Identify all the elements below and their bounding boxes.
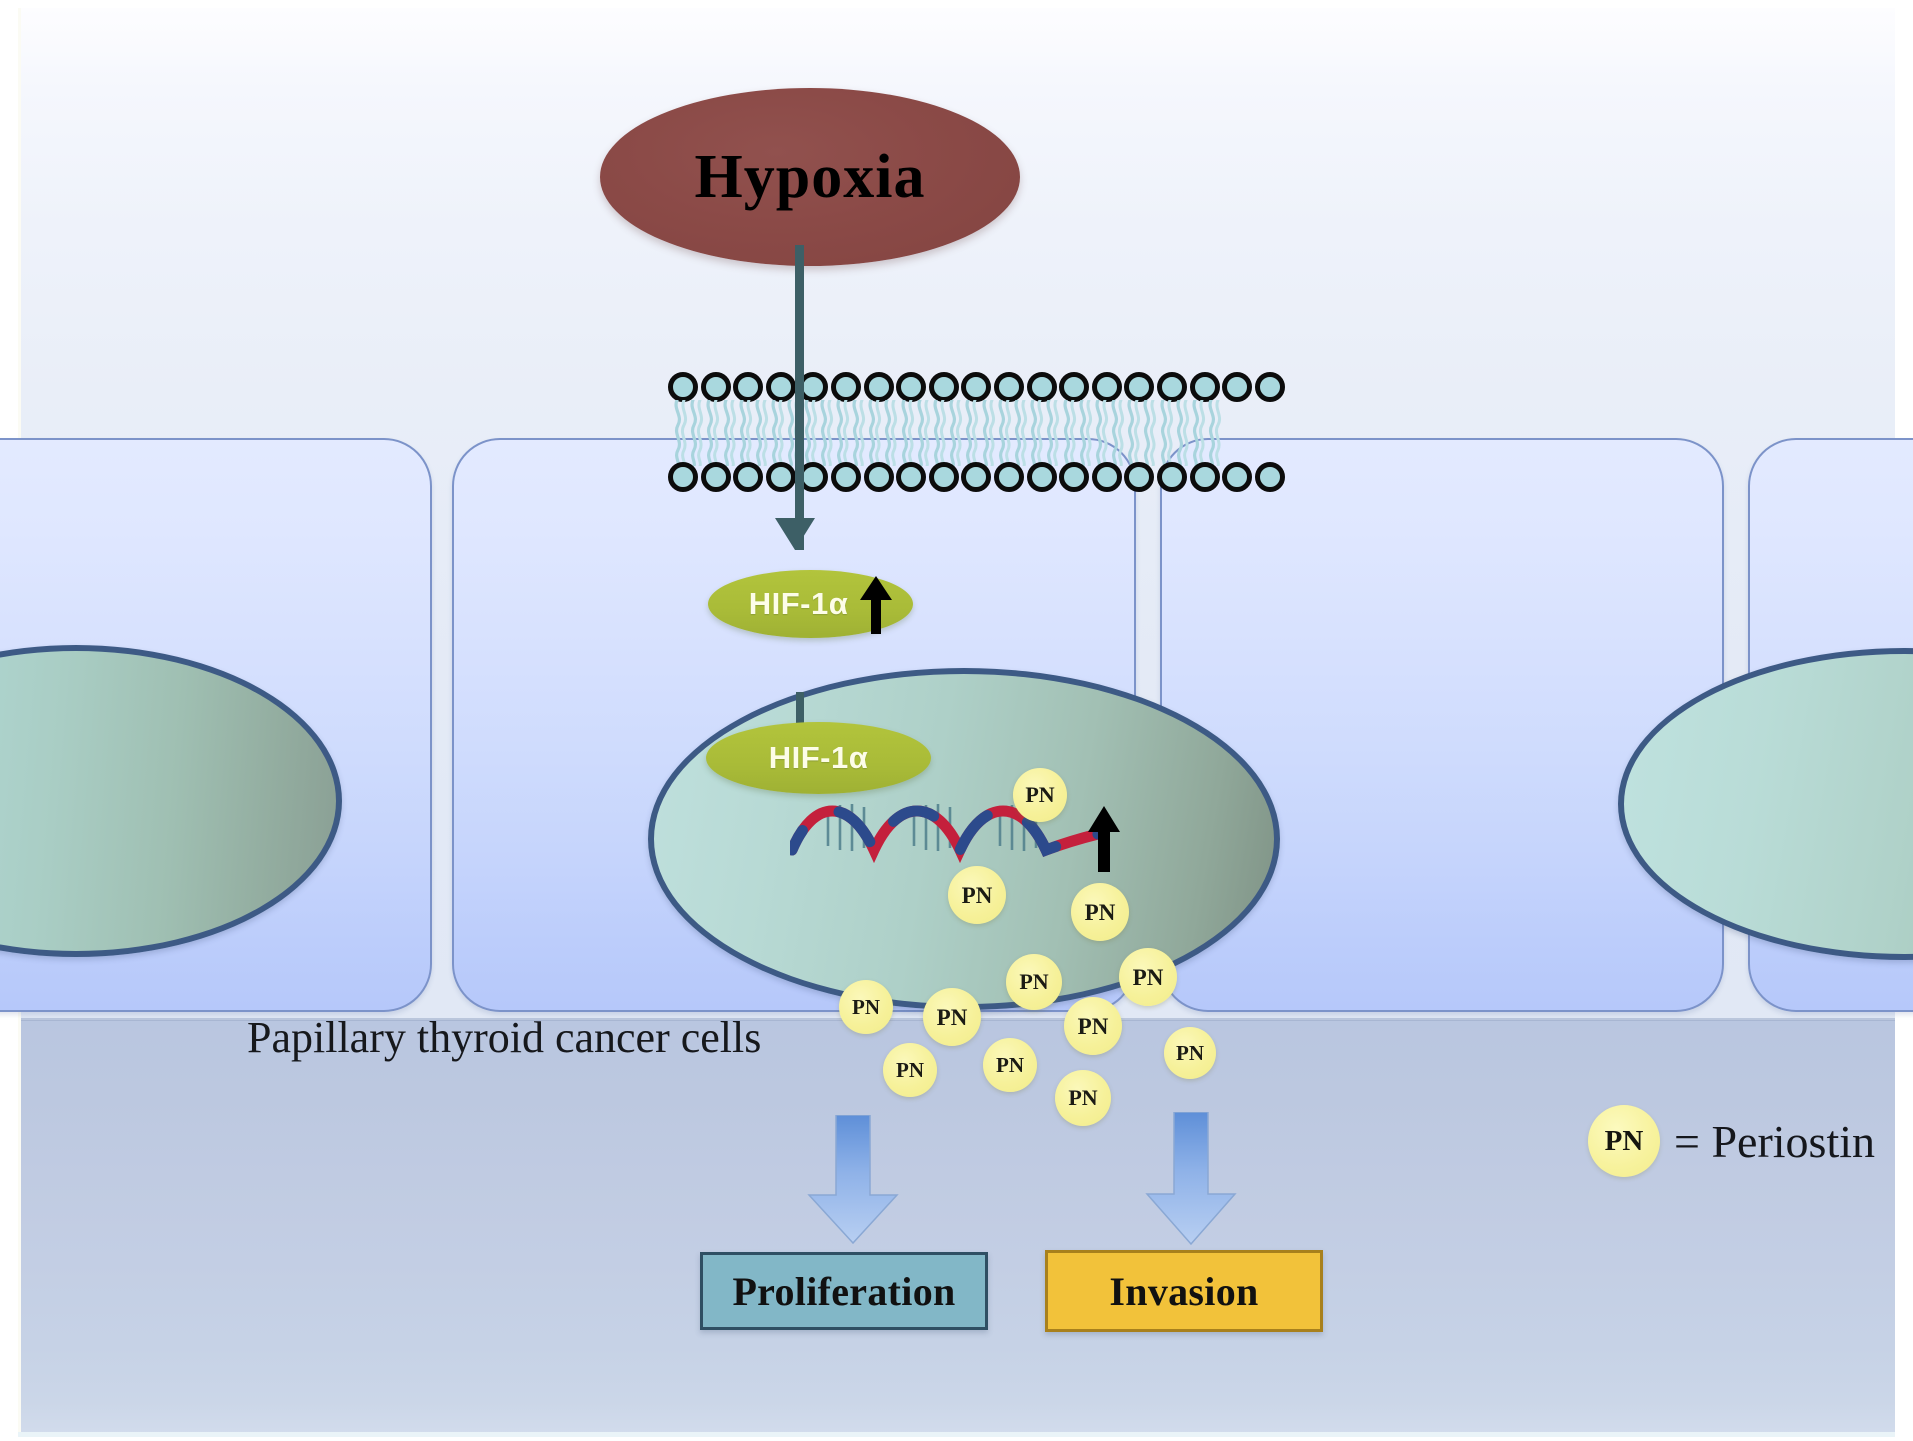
hif1a-upregulation-arrow-icon (858, 576, 894, 639)
hypoxia-node: Hypoxia (600, 88, 1020, 266)
phospholipid-head (1124, 372, 1154, 402)
periostin-upregulation-arrow-icon (1086, 806, 1122, 877)
hif1a-nucleus-node: HIF-1α (706, 722, 931, 794)
phospholipid-head (733, 462, 763, 492)
periostin-molecule: PN (1055, 1070, 1111, 1126)
phospholipid-head (1157, 372, 1187, 402)
periostin-molecule-label: PN (1133, 966, 1164, 989)
phospholipid-head (1027, 462, 1057, 492)
phospholipid-head (929, 462, 959, 492)
cells-caption: Papillary thyroid cancer cells (247, 1012, 761, 1063)
periostin-molecule-label: PN (1078, 1015, 1109, 1038)
phospholipid-head (1092, 372, 1122, 402)
periostin-molecule: PN (983, 1038, 1037, 1092)
phospholipid-head (766, 462, 796, 492)
invasion-label: Invasion (1109, 1268, 1258, 1315)
periostin-molecule-label: PN (996, 1055, 1024, 1076)
phospholipid-head (668, 462, 698, 492)
figure-canvas: Hypoxia HIF-1α HIF-1α (0, 0, 1913, 1441)
background-lower (18, 1020, 1895, 1435)
phospholipid-head (1222, 372, 1252, 402)
proliferation-label: Proliferation (732, 1268, 955, 1315)
periostin-molecule-label: PN (962, 884, 993, 907)
legend: PN = Periostin (1588, 1105, 1875, 1177)
phospholipid-head (831, 462, 861, 492)
periostin-molecule-label: PN (852, 997, 880, 1018)
phospholipid-head (1124, 462, 1154, 492)
periostin-molecule: PN (1119, 948, 1177, 1006)
phospholipid-head (994, 372, 1024, 402)
phospholipid-head (896, 462, 926, 492)
hypoxia-entry-arrow-stem (795, 245, 804, 550)
periostin-molecule: PN (883, 1043, 937, 1097)
periostin-molecule-label: PN (1025, 784, 1054, 806)
phospholipid-head (1255, 462, 1285, 492)
phospholipid-head (1059, 372, 1089, 402)
phospholipid-head (961, 462, 991, 492)
phospholipid-head (831, 372, 861, 402)
hypoxia-entry-arrow-head (775, 518, 815, 550)
phospholipid-head (1027, 372, 1057, 402)
legend-periostin-symbol: PN (1588, 1105, 1660, 1177)
phospholipid-head (766, 372, 796, 402)
hypoxia-label: Hypoxia (695, 142, 926, 213)
phospholipid-head (1190, 462, 1220, 492)
invasion-block-arrow (1143, 1112, 1239, 1251)
phospholipid-head (1255, 372, 1285, 402)
phospholipid-head (1157, 462, 1187, 492)
phospholipid-head (1222, 462, 1252, 492)
periostin-molecule-label: PN (1019, 971, 1048, 993)
periostin-molecule-label: PN (1085, 901, 1116, 924)
periostin-molecule: PN (923, 988, 981, 1046)
periostin-molecule-label: PN (1068, 1087, 1097, 1109)
phospholipid-head (701, 462, 731, 492)
periostin-molecule: PN (839, 980, 893, 1034)
phospholipid-head (994, 462, 1024, 492)
periostin-molecule: PN (1071, 883, 1129, 941)
phospholipid-head (1092, 462, 1122, 492)
periostin-molecule: PN (1006, 954, 1062, 1010)
phospholipid-head (701, 372, 731, 402)
proliferation-block-arrow (805, 1115, 901, 1250)
plasma-membrane-bilayer (668, 366, 1238, 498)
phospholipid-head (1059, 462, 1089, 492)
periostin-molecule: PN (1013, 768, 1067, 822)
legend-periostin-text: = Periostin (1674, 1115, 1875, 1168)
phospholipid-head (896, 372, 926, 402)
membrane-inner-leaflet (668, 456, 1238, 498)
phospholipid-head (668, 372, 698, 402)
invasion-outcome-box: Invasion (1045, 1250, 1323, 1332)
phospholipid-head (1190, 372, 1220, 402)
proliferation-outcome-box: Proliferation (700, 1252, 988, 1330)
hif1a-cytoplasm-label: HIF-1α (749, 586, 849, 622)
phospholipid-head (864, 462, 894, 492)
hif1a-nucleus-label: HIF-1α (769, 740, 869, 776)
legend-symbol-text: PN (1605, 1125, 1644, 1158)
periostin-molecule-label: PN (1176, 1043, 1204, 1064)
phospholipid-head (929, 372, 959, 402)
periostin-molecule-label: PN (937, 1006, 968, 1029)
phospholipid-head (864, 372, 894, 402)
phospholipid-head (961, 372, 991, 402)
periostin-molecule: PN (948, 866, 1006, 924)
periostin-molecule: PN (1164, 1027, 1216, 1079)
periostin-molecule: PN (1064, 997, 1122, 1055)
phospholipid-head (733, 372, 763, 402)
cancer-cell-right (1160, 438, 1724, 1012)
periostin-molecule-label: PN (896, 1060, 924, 1081)
frame-bottom-edge (18, 1432, 1895, 1437)
